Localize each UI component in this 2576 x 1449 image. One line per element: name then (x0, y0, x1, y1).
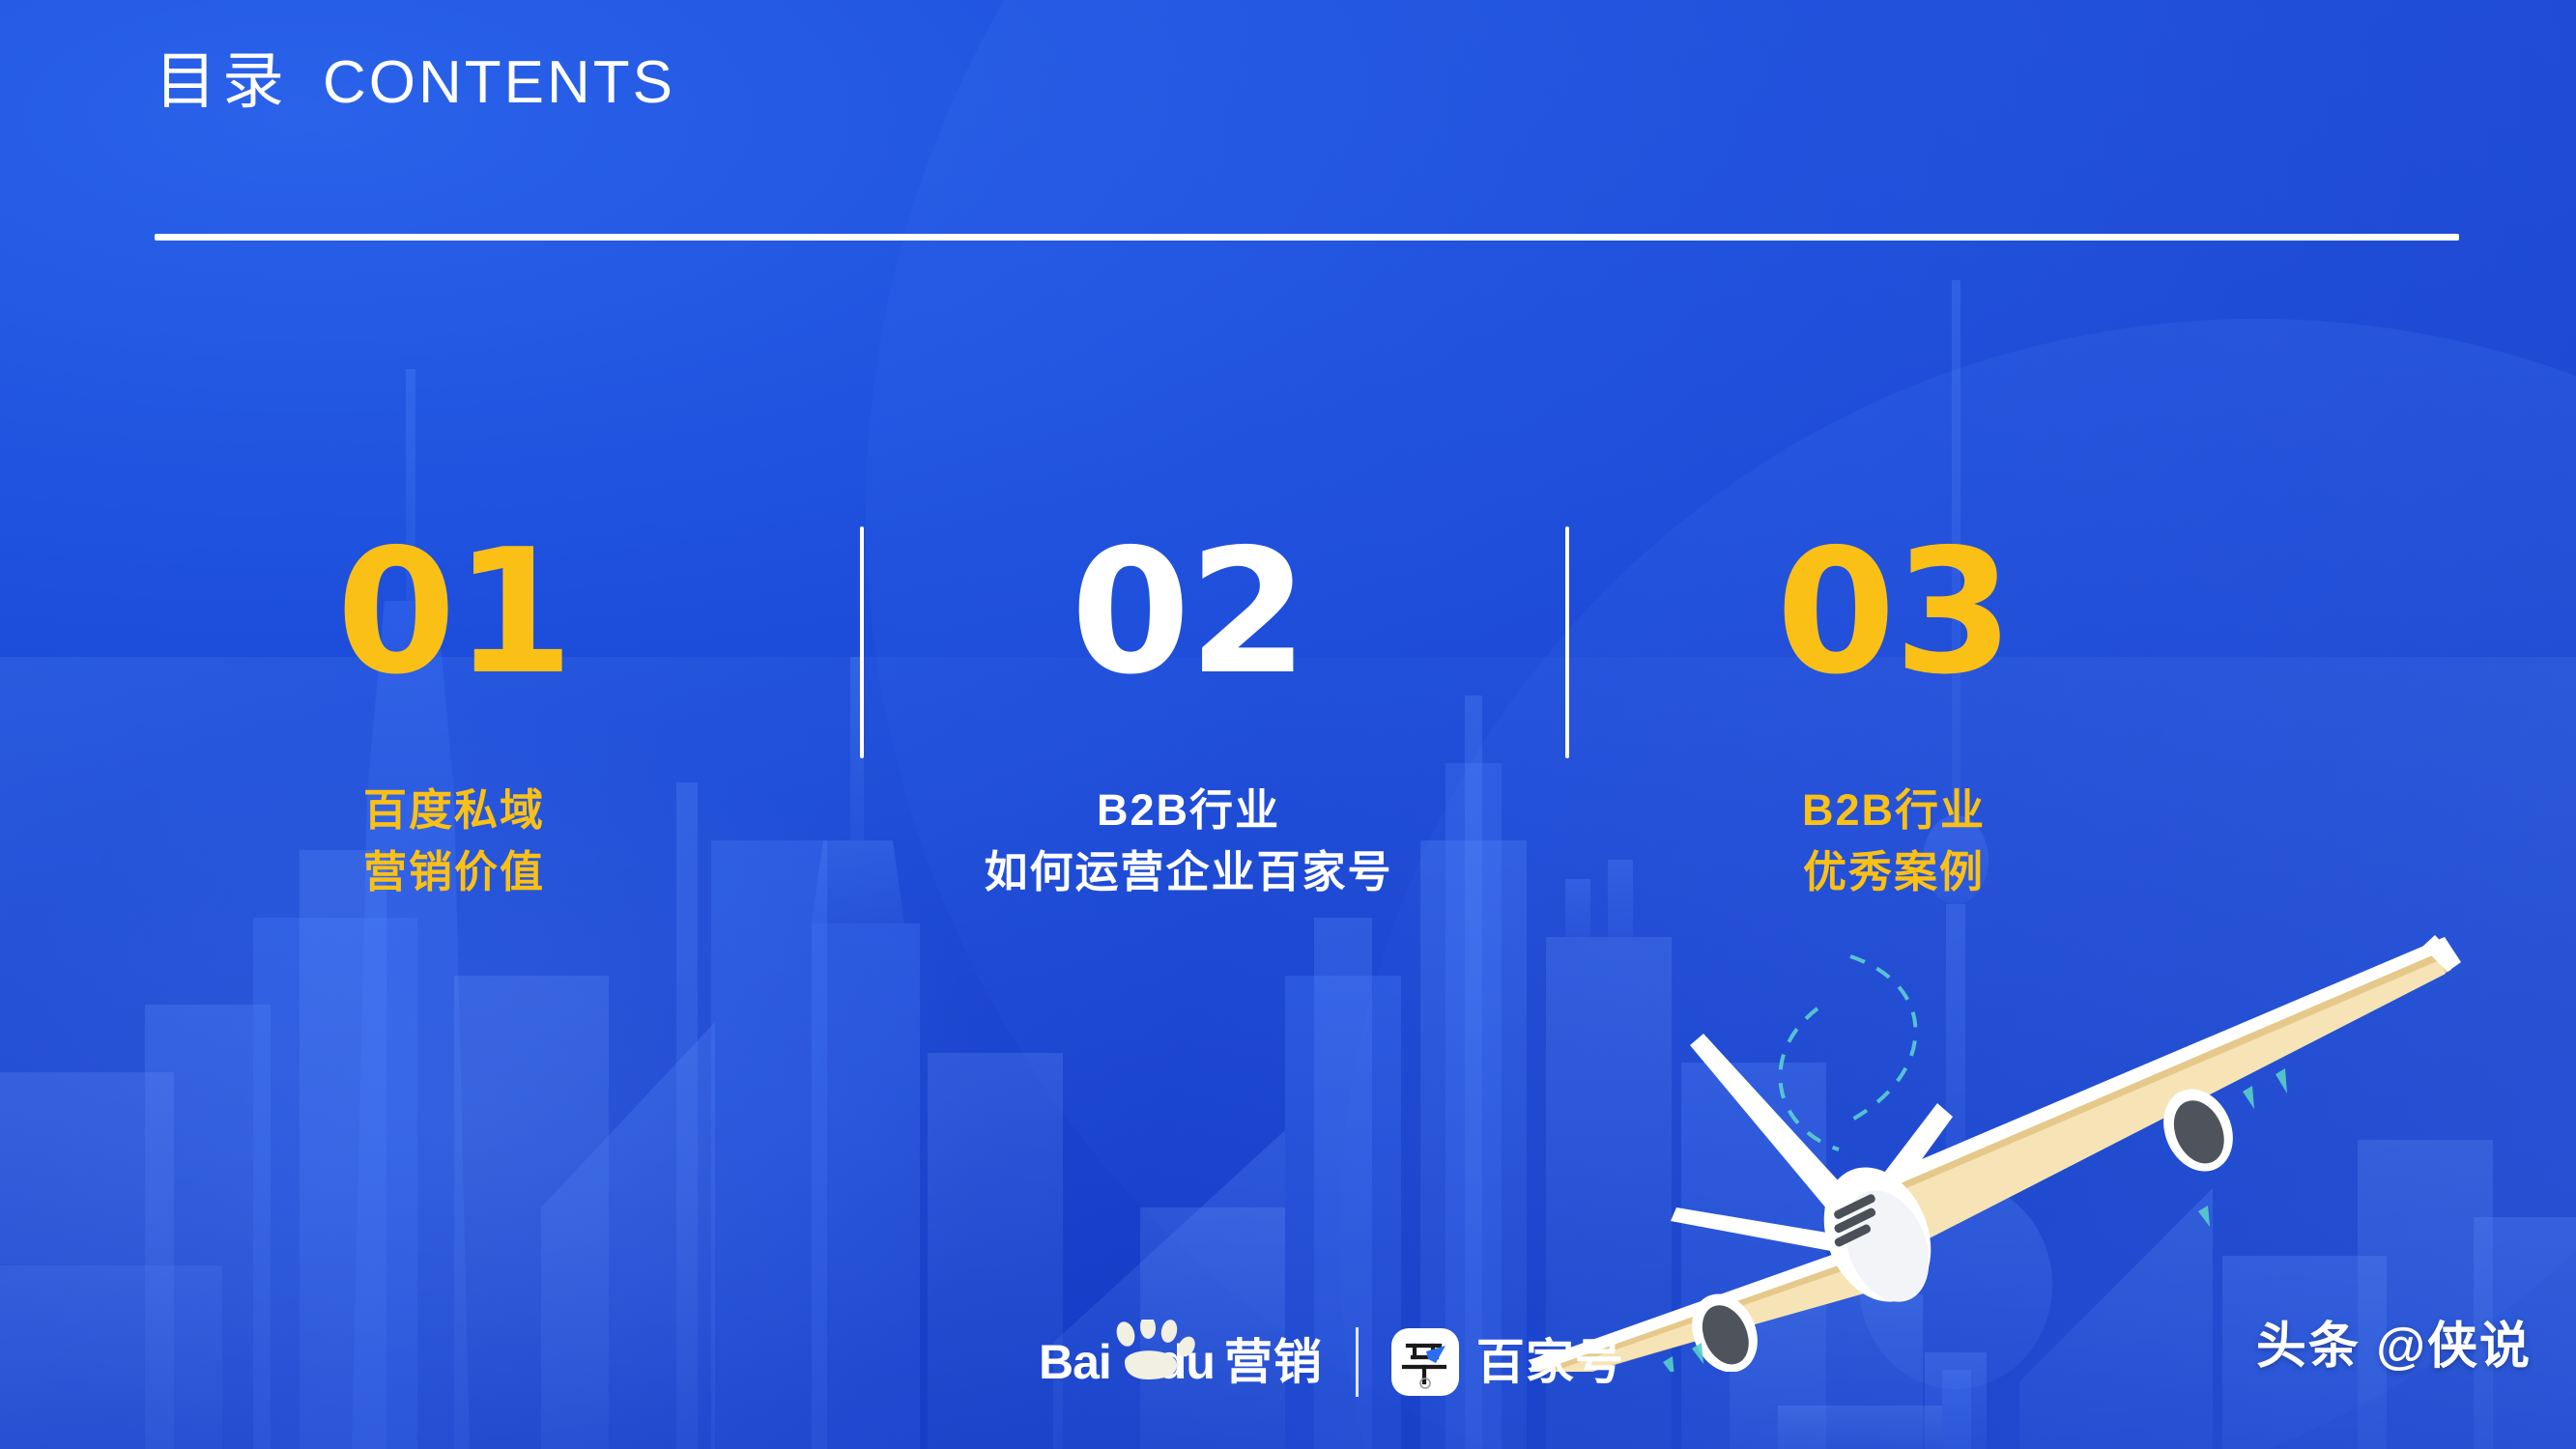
section-label-line: 百度私域 (363, 780, 545, 841)
column-divider-2 (1565, 526, 1569, 758)
section-label: B2B行业 优秀案例 (1802, 780, 1986, 903)
baidu-logo-suffix: 营销 (1224, 1338, 1323, 1386)
contents-item-03[interactable]: 03 B2B行业 优秀案例 (1652, 526, 2135, 903)
header-divider-rule (155, 234, 2459, 241)
contents-item-02[interactable]: 02 B2B行业 如何运营企业百家号 (850, 526, 1527, 903)
baijiahao-logo: 百家号 (1391, 1328, 1624, 1396)
contents-item-01[interactable]: 01 百度私域 营销价值 (184, 526, 725, 903)
page-title: 目录 CONTENTS (155, 50, 675, 113)
section-label: 百度私域 营销价值 (363, 780, 545, 903)
page-title-cn: 目录 (155, 50, 290, 112)
airplane-illustration-icon (1531, 927, 2507, 1372)
baijiahao-app-icon (1391, 1328, 1459, 1396)
baidu-logo-bai: Bai (1039, 1338, 1111, 1386)
section-number: 01 (336, 526, 572, 698)
watermark: 头条 @侠说 (2256, 1321, 2532, 1372)
section-label: B2B行业 如何运营企业百家号 (984, 780, 1392, 903)
section-label-line: 如何运营企业百家号 (984, 841, 1392, 903)
section-label-line: 优秀案例 (1802, 841, 1986, 903)
baidu-paw-icon (1109, 1320, 1198, 1379)
presentation-slide: 目录 CONTENTS 01 百度私域 营销价值 02 B2B行业 如何运营企业… (0, 0, 2576, 1449)
column-divider-1 (860, 526, 864, 758)
section-label-line: B2B行业 (984, 780, 1392, 841)
logo-separator (1356, 1327, 1359, 1397)
baijiahao-logo-text: 百家号 (1476, 1338, 1624, 1386)
section-number: 03 (1776, 526, 2012, 698)
section-number: 02 (1071, 526, 1306, 698)
baidu-marketing-logo: Bai du 营销 (1039, 1338, 1323, 1386)
section-label-line: 营销价值 (363, 841, 545, 903)
section-label-line: B2B行业 (1802, 780, 1986, 841)
footer-logos: Bai du 营销 (1039, 1316, 1624, 1408)
baijiahao-glyph-icon (1391, 1328, 1459, 1396)
page-title-en: CONTENTS (323, 53, 675, 113)
